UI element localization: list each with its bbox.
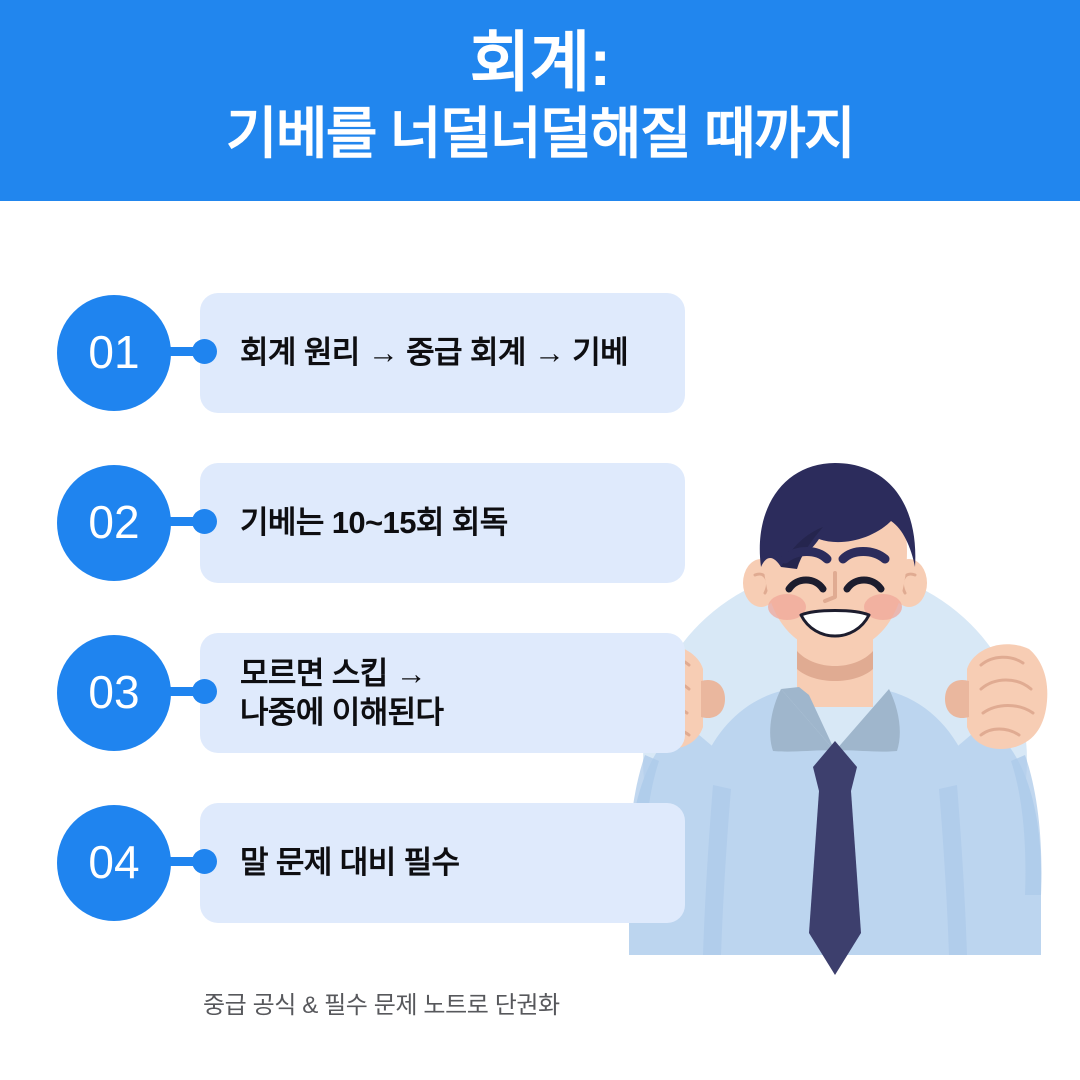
step-number-badge-4: 04 (57, 805, 171, 921)
step-connector-dot-1 (192, 339, 217, 364)
step-connector-dot-2 (192, 509, 217, 534)
step-text-4: 말 문제 대비 필수 (200, 843, 685, 882)
step-card-1[interactable]: 회계 원리 → 중급 회계 → 기베 (200, 293, 685, 413)
step-number-badge-3: 03 (57, 635, 171, 751)
steps-list: 01 회계 원리 → 중급 회계 → 기베 02 기베는 10~15회 회독 0… (0, 0, 1080, 1080)
step-text-1: 회계 원리 → 중급 회계 → 기베 (200, 333, 685, 372)
step-text-3: 모르면 스킵 → 나중에 이해된다 (200, 654, 685, 732)
step-connector-dot-3 (192, 679, 217, 704)
infographic-canvas: 회계: 기베를 너덜너덜해질 때까지 (0, 0, 1080, 1080)
step-card-2[interactable]: 기베는 10~15회 회독 (200, 463, 685, 583)
step-card-3[interactable]: 모르면 스킵 → 나중에 이해된다 (200, 633, 685, 753)
step-text-2: 기베는 10~15회 회독 (200, 503, 685, 542)
step-card-4[interactable]: 말 문제 대비 필수 (200, 803, 685, 923)
footer-note: 중급 공식 & 필수 문제 노트로 단권화 (203, 985, 560, 1020)
step-number-badge-2: 02 (57, 465, 171, 581)
step-connector-dot-4 (192, 849, 217, 874)
step-row-1[interactable]: 01 회계 원리 → 중급 회계 → 기베 (0, 293, 700, 413)
step-row-4[interactable]: 04 말 문제 대비 필수 (0, 803, 700, 923)
step-row-3[interactable]: 03 모르면 스킵 → 나중에 이해된다 (0, 633, 700, 753)
step-number-badge-1: 01 (57, 295, 171, 411)
step-row-2[interactable]: 02 기베는 10~15회 회독 (0, 463, 700, 583)
